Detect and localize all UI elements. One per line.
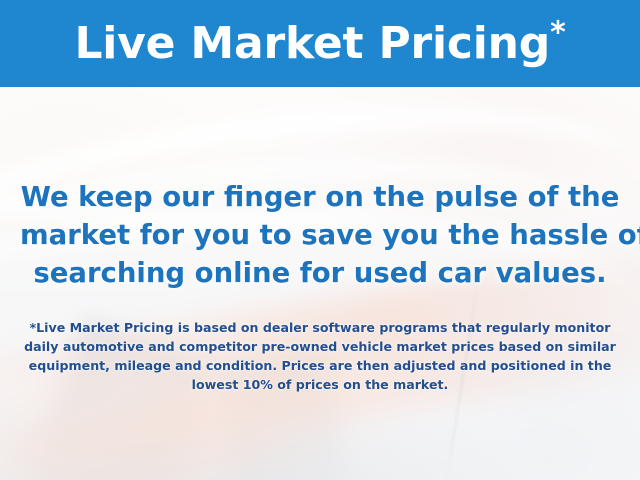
page-title-text: Live Market Pricing bbox=[74, 18, 550, 69]
live-market-pricing-banner: Live Market Pricing* We keep our finger … bbox=[0, 0, 640, 480]
headline: We keep our finger on the pulse of the m… bbox=[0, 178, 640, 292]
headline-line-2: market for you to save you the hassle of bbox=[20, 216, 620, 254]
disclaimer-line-4: lowest 10% of prices on the market. bbox=[20, 375, 620, 394]
page-title: Live Market Pricing* bbox=[74, 22, 565, 66]
disclaimer-line-3: equipment, mileage and condition. Prices… bbox=[20, 356, 620, 375]
disclaimer-text: *Live Market Pricing is based on dealer … bbox=[0, 318, 640, 394]
page-title-asterisk: * bbox=[550, 15, 566, 50]
header-banner: Live Market Pricing* bbox=[0, 0, 640, 87]
headline-line-3: searching online for used car values. bbox=[20, 254, 620, 292]
headline-line-1: We keep our finger on the pulse of the bbox=[20, 178, 620, 216]
disclaimer-line-1: *Live Market Pricing is based on dealer … bbox=[20, 318, 620, 337]
disclaimer-line-2: daily automotive and competitor pre-owne… bbox=[20, 337, 620, 356]
